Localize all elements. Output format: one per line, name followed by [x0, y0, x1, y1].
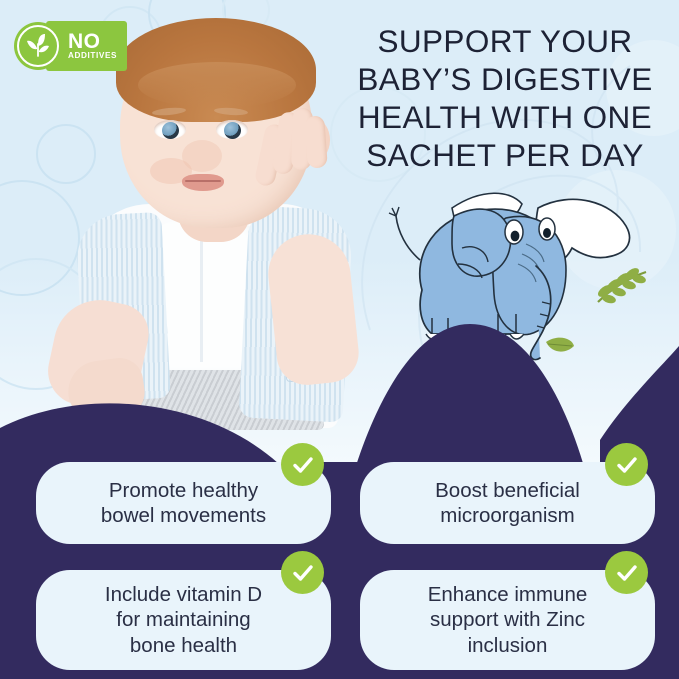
check-icon	[605, 443, 648, 486]
product-infographic: NO ADDITIVES SUPPORT YOUR BABY’S DIGESTI…	[0, 0, 679, 679]
leaf-icon	[14, 22, 62, 70]
benefit-line: inclusion	[428, 633, 588, 659]
benefit-line: bowel movements	[101, 503, 266, 529]
check-icon	[281, 551, 324, 594]
benefit-line: support with Zinc	[428, 607, 588, 633]
benefits-list: Promote healthy bowel movements Boost be…	[0, 0, 679, 679]
benefit-line: microorganism	[435, 503, 580, 529]
benefit-line: bone health	[105, 633, 262, 659]
benefit-line: Include vitamin D	[105, 582, 262, 608]
benefit-line: Promote healthy	[101, 478, 266, 504]
benefit-line: for maintaining	[105, 607, 262, 633]
benefit-line: Enhance immune	[428, 582, 588, 608]
check-icon	[605, 551, 648, 594]
check-icon	[281, 443, 324, 486]
benefit-line: Boost beneficial	[435, 478, 580, 504]
